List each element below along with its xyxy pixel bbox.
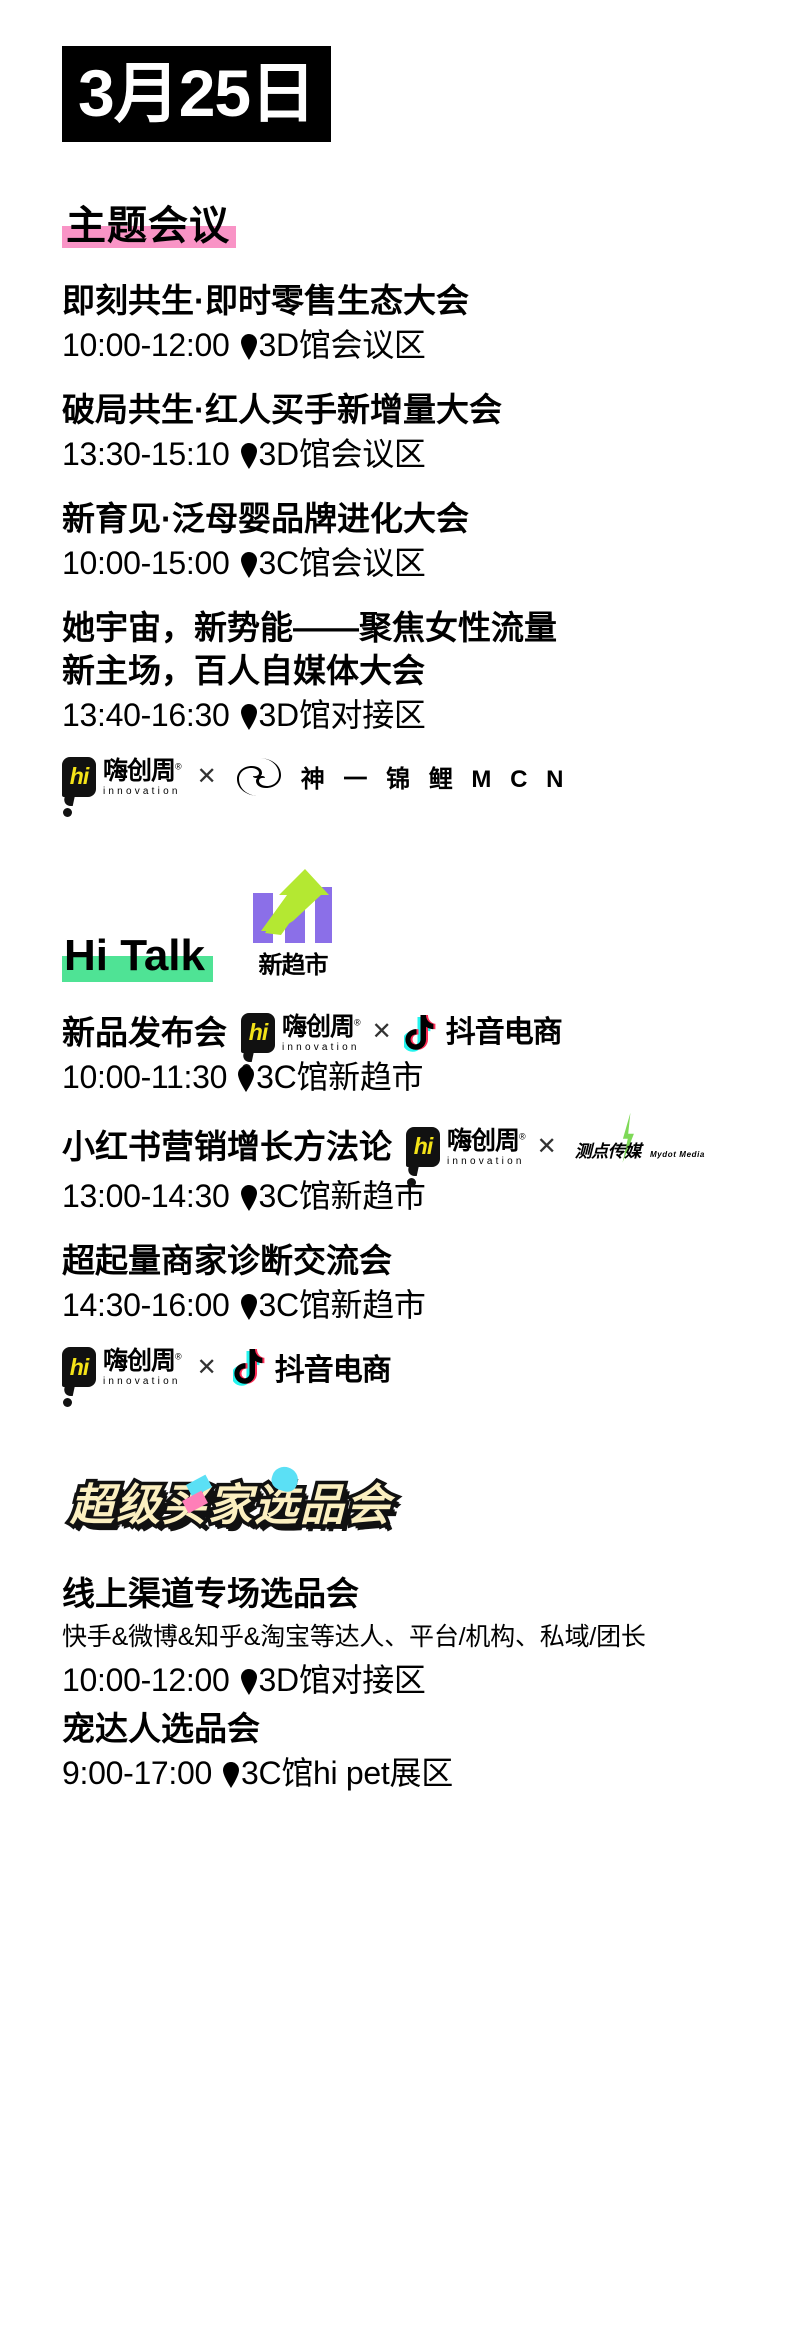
event-time: 13:30-15:10	[62, 433, 230, 476]
event-time: 10:00-12:00	[62, 324, 230, 367]
cedian-wordmark-en: Mydot Media	[650, 1150, 705, 1159]
event-title-text: 线上渠道专场选品会	[62, 1573, 359, 1615]
event-list-theme-conference: 即刻共生·即时零售生态大会 10:00-12:00 3D馆会议区 破局共生·红人…	[0, 248, 800, 799]
event-item: 破局共生·红人买手新增量大会 13:30-15:10 3D馆会议区	[62, 389, 800, 476]
haichuangzhou-wordmark: 嗨创周® innovation	[447, 1129, 525, 1167]
event-title-text: 新品发布会	[62, 1012, 227, 1054]
yin-yang-swirl-icon	[233, 755, 285, 799]
brand-name-cn: 嗨创周	[103, 757, 175, 785]
event-location: 3C馆新趋市	[259, 1175, 426, 1218]
partner-lockup-douyin: hi 嗨创周® innovation ✕ 抖音电商	[62, 1345, 800, 1389]
event-meta: 10:00-11:30 3C馆新趋市	[62, 1056, 800, 1099]
event-meta: 13:00-14:30 3C馆新趋市	[62, 1175, 800, 1218]
event-meta: 13:40-16:30 3D馆对接区	[62, 694, 800, 737]
poster-page: 3月25日 主题会议 即刻共生·即时零售生态大会 10:00-12:00 3D馆…	[0, 0, 800, 1819]
event-item: 小红书营销增长方法论 hi 嗨创周® innovation ✕	[62, 1121, 800, 1218]
location-pin-icon	[240, 1288, 258, 1314]
event-item: 新育见·泛母婴品牌进化大会 10:00-15:00 3C馆会议区	[62, 498, 800, 585]
event-title: 宠达人选品会	[62, 1708, 800, 1750]
partner-lockup-shenyi: hi 嗨创周® innovation ✕ 神 一 锦 鲤 M C N	[62, 755, 800, 799]
brand-name-en: innovation	[103, 1377, 181, 1387]
event-location: 3D馆对接区	[259, 1659, 426, 1702]
douyin-ecommerce-logo: 抖音电商	[404, 1014, 562, 1052]
shenyi-wordmark: 神 一 锦 鲤 M C N	[301, 759, 570, 794]
event-meta: 10:00-15:00 3C馆会议区	[62, 542, 800, 585]
section-heading-label: Hi Talk	[64, 931, 205, 980]
location-pin-icon	[240, 546, 258, 572]
event-location: 3C馆会议区	[259, 542, 426, 585]
brand-name-en: innovation	[447, 1157, 525, 1167]
location-pin-icon	[240, 437, 258, 463]
event-title: 新育见·泛母婴品牌进化大会	[62, 498, 800, 540]
event-item: 她宇宙，新势能——聚焦女性流量 新主场，百人自媒体大会 13:40-16:30 …	[62, 607, 800, 736]
event-title: 即刻共生·即时零售生态大会	[62, 280, 800, 322]
brand-name-cn: 嗨创周	[447, 1127, 519, 1155]
haichuangzhou-logo: hi 嗨创周® innovation	[62, 1347, 181, 1387]
hi-speech-bubble-icon: hi	[241, 1013, 275, 1053]
event-list-hi-talk: 新品发布会 hi 嗨创周® innovation ✕	[0, 980, 800, 1389]
douyin-wordmark: 抖音电商	[275, 1345, 391, 1389]
haichuangzhou-wordmark: 嗨创周® innovation	[282, 1015, 360, 1053]
haichuangzhou-logo: hi 嗨创周® innovation	[241, 1013, 360, 1053]
event-time: 9:00-17:00	[62, 1752, 212, 1795]
event-location: 3C馆hi pet展区	[241, 1752, 453, 1795]
event-time: 13:00-14:30	[62, 1175, 230, 1218]
event-meta: 14:30-16:00 3C馆新趋市	[62, 1284, 800, 1327]
cross-separator-icon: ✕	[195, 762, 219, 791]
brand-name-en: innovation	[103, 787, 181, 797]
cross-separator-icon: ✕	[535, 1132, 559, 1163]
tiktok-note-icon	[404, 1014, 438, 1052]
event-title: 小红书营销增长方法论 hi 嗨创周® innovation ✕	[62, 1121, 800, 1173]
event-location: 3C馆新趋市	[256, 1056, 423, 1099]
event-time: 14:30-16:00	[62, 1284, 230, 1327]
event-title-text: 宠达人选品会	[62, 1708, 260, 1750]
shenyi-jinli-logo: 神 一 锦 鲤 M C N	[233, 755, 570, 799]
haichuangzhou-wordmark: 嗨创周® innovation	[103, 1349, 181, 1387]
haichuangzhou-logo: hi 嗨创周® innovation	[62, 757, 181, 797]
event-subtitle: 快手&微博&知乎&淘宝等达人、平台/机构、私域/团长	[62, 1619, 762, 1657]
event-item: 线上渠道专场选品会 快手&微博&知乎&淘宝等达人、平台/机构、私域/团长 10:…	[62, 1573, 800, 1702]
event-title: 新品发布会 hi 嗨创周® innovation ✕	[62, 1012, 800, 1054]
douyin-ecommerce-logo: 抖音电商	[233, 1345, 391, 1389]
haichuangzhou-logo: hi 嗨创周® innovation	[406, 1127, 525, 1167]
haichuangzhou-wordmark: 嗨创周® innovation	[103, 759, 181, 797]
growth-chart-arrow-icon	[243, 869, 343, 947]
xinqushi-wordmark: 新趋市	[259, 945, 328, 980]
event-location: 3D馆会议区	[259, 324, 426, 367]
event-title: 破局共生·红人买手新增量大会	[62, 389, 800, 431]
event-title: 线上渠道专场选品会	[62, 1573, 800, 1615]
event-title-text: 超起量商家诊断交流会	[62, 1240, 392, 1282]
date-badge-container: 3月25日	[0, 0, 800, 142]
event-time: 10:00-12:00	[62, 1659, 230, 1702]
cross-separator-icon: ✕	[195, 1353, 219, 1382]
event-title-text: 她宇宙，新势能——聚焦女性流量 新主场，百人自媒体大会	[62, 607, 557, 691]
event-title-text: 即刻共生·即时零售生态大会	[62, 280, 469, 322]
event-title-text: 破局共生·红人买手新增量大会	[62, 389, 502, 431]
event-location: 3C馆新趋市	[259, 1284, 426, 1327]
event-title: 她宇宙，新势能——聚焦女性流量 新主场，百人自媒体大会	[62, 607, 800, 691]
brand-name-cn: 嗨创周	[103, 1347, 175, 1375]
cross-separator-icon: ✕	[370, 1017, 394, 1048]
trademark-mark: ®	[175, 1352, 181, 1362]
location-pin-icon	[237, 1060, 255, 1086]
event-location: 3D馆对接区	[259, 694, 426, 737]
partner-lockup-douyin-inline: hi 嗨创周® innovation ✕	[241, 1013, 562, 1053]
date-badge: 3月25日	[62, 46, 331, 142]
brand-name-en: innovation	[282, 1043, 360, 1053]
section-heading-super-buyer-wrap: 超级买家选品会	[56, 1461, 800, 1541]
event-item: 即刻共生·即时零售生态大会 10:00-12:00 3D馆会议区	[62, 280, 800, 367]
section-heading-label: 主题会议	[66, 204, 230, 248]
section-heading-hi-talk-row: Hi Talk 新趋市	[62, 869, 800, 980]
event-meta: 10:00-12:00 3D馆对接区	[62, 1659, 800, 1702]
page-bottom-spacer	[0, 1795, 800, 1819]
event-title-text: 小红书营销增长方法论	[62, 1126, 392, 1168]
location-pin-icon	[240, 698, 258, 724]
cedian-media-logo: 测点传媒 Mydot Media	[569, 1121, 711, 1173]
event-title: 超起量商家诊断交流会	[62, 1240, 800, 1282]
section-heading-theme-conference: 主题会议	[62, 204, 236, 248]
trademark-mark: ®	[519, 1132, 525, 1142]
trademark-mark: ®	[175, 761, 181, 771]
location-pin-icon	[240, 1663, 258, 1689]
partner-lockup-cedian-inline: hi 嗨创周® innovation ✕ 测点传媒 Mydot Media	[406, 1121, 711, 1173]
event-meta: 10:00-12:00 3D馆会议区	[62, 324, 800, 367]
section-heading-super-buyer: 超级买家选品会	[56, 1461, 406, 1541]
section-heading-hi-talk: Hi Talk	[62, 933, 213, 979]
hi-speech-bubble-icon: hi	[62, 757, 96, 797]
event-item: 宠达人选品会 9:00-17:00 3C馆hi pet展区	[62, 1708, 800, 1795]
douyin-wordmark: 抖音电商	[446, 1014, 562, 1052]
brand-name-cn: 嗨创周	[282, 1013, 354, 1041]
trademark-mark: ®	[354, 1017, 360, 1027]
event-time: 10:00-15:00	[62, 542, 230, 585]
location-pin-icon	[240, 328, 258, 354]
event-list-super-buyer: 线上渠道专场选品会 快手&微博&知乎&淘宝等达人、平台/机构、私域/团长 10:…	[0, 1541, 800, 1795]
tiktok-note-icon	[233, 1348, 267, 1386]
xinqushi-logo: 新趋市	[239, 869, 347, 980]
cedian-wordmark-cn: 测点传媒	[575, 1142, 641, 1161]
event-item: 超起量商家诊断交流会 14:30-16:00 3C馆新趋市	[62, 1240, 800, 1327]
event-meta: 9:00-17:00 3C馆hi pet展区	[62, 1752, 800, 1795]
event-time: 10:00-11:30	[62, 1056, 227, 1099]
hi-speech-bubble-icon: hi	[406, 1127, 440, 1167]
event-location: 3D馆会议区	[259, 433, 426, 476]
hi-speech-bubble-icon: hi	[62, 1347, 96, 1387]
event-meta: 13:30-15:10 3D馆会议区	[62, 433, 800, 476]
section-heading-label: 超级买家选品会	[70, 1481, 392, 1530]
location-pin-icon	[240, 1179, 258, 1205]
location-pin-icon	[222, 1756, 240, 1782]
event-item: 新品发布会 hi 嗨创周® innovation ✕	[62, 1012, 800, 1099]
event-title-text: 新育见·泛母婴品牌进化大会	[62, 498, 469, 540]
event-time: 13:40-16:30	[62, 694, 230, 737]
